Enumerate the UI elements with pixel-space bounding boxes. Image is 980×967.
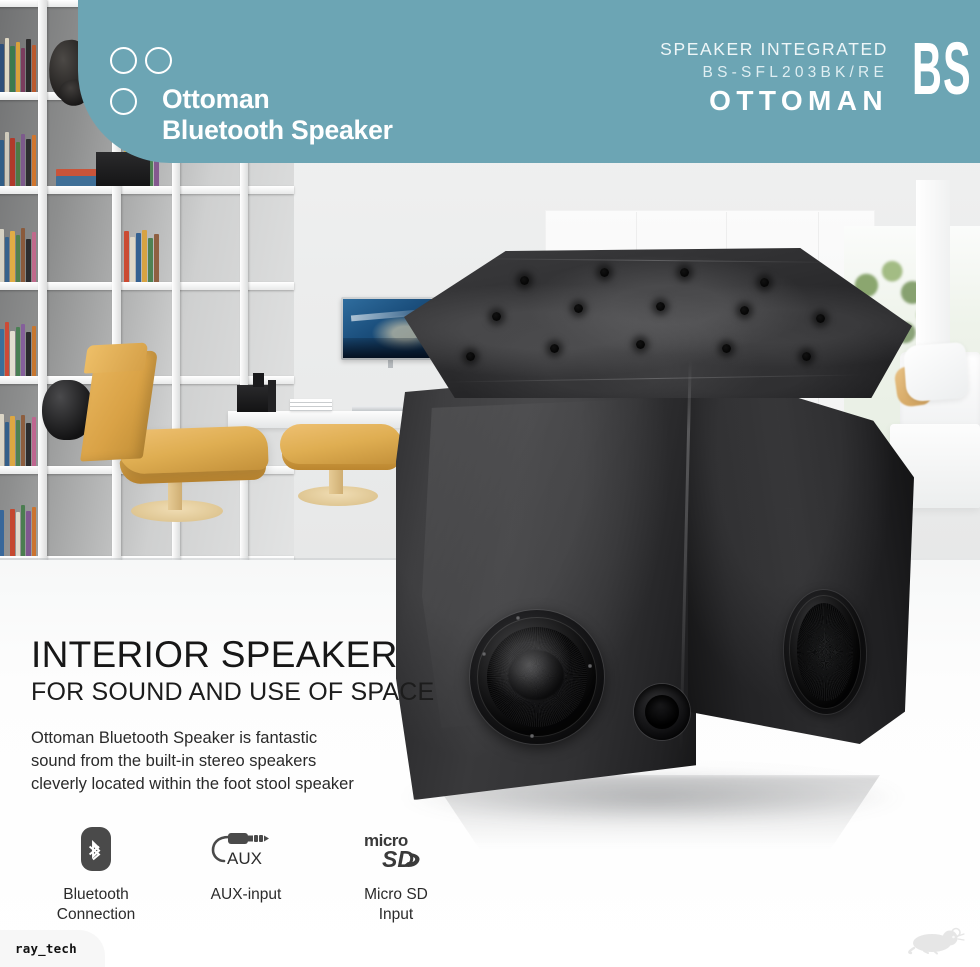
banner-product-info: SPEAKER INTEGRATED BS-SFL203BK/RE OTTOMA…	[660, 38, 888, 117]
aux-icon-text: AUX	[227, 849, 262, 868]
marketing-copy: INTERIOR SPEAKER FOR SOUND AND USE OF SP…	[31, 634, 434, 796]
feature-aux-label: AUX-input	[194, 885, 298, 905]
console-object	[253, 373, 264, 387]
tv-stand	[388, 360, 393, 368]
banner-title: Ottoman Bluetooth Speaker	[162, 84, 393, 146]
bluetooth-icon	[44, 824, 148, 874]
product-advertisement: Ottoman Bluetooth Speaker SPEAKER INTEGR…	[0, 0, 980, 967]
bass-port	[634, 684, 690, 740]
feature-bluetooth: Bluetooth Connection	[44, 824, 148, 925]
body-copy-line1: Ottoman Bluetooth Speaker is fantastic	[31, 727, 434, 750]
micro-sd-icon: micro SD	[344, 824, 448, 874]
ottoman-bluetooth-speaker-product	[396, 248, 920, 818]
feature-microsd-label: Micro SD Input	[344, 885, 448, 925]
seller-name: ray_tech	[15, 941, 77, 956]
headline: INTERIOR SPEAKER	[31, 634, 434, 676]
feature-list: Bluetooth Connection AUX AUX-input	[44, 824, 448, 925]
body-copy: Ottoman Bluetooth Speaker is fantastic s…	[31, 727, 434, 796]
banner-title-line2: Bluetooth Speaker	[162, 115, 393, 146]
feature-microsd: micro SD Micro SD Input	[344, 824, 448, 925]
feature-bluetooth-label: Bluetooth Connection	[44, 885, 148, 925]
aux-jack-icon: AUX	[194, 824, 298, 874]
chair-headrest	[84, 342, 148, 373]
console-object	[268, 380, 276, 412]
banner-kicker: SPEAKER INTEGRATED	[660, 38, 888, 60]
body-copy-line3: cleverly located within the foot stool s…	[31, 773, 434, 796]
body-copy-line2: sound from the built-in stereo speakers	[31, 750, 434, 773]
header-banner: Ottoman Bluetooth Speaker SPEAKER INTEGR…	[78, 0, 980, 163]
subheadline: FOR SOUND AND USE OF SPACE	[31, 677, 434, 707]
banner-model-number: BS-SFL203BK/RE	[660, 60, 888, 85]
seller-tab[interactable]: ray_tech	[0, 930, 105, 967]
micro-sd-text-bottom: SD	[382, 846, 414, 871]
speaker-tufted-top	[404, 248, 912, 398]
speaker-driver-front	[470, 610, 604, 744]
mouse-icon	[906, 926, 966, 956]
brand-logo: BS	[912, 32, 972, 106]
feature-aux: AUX AUX-input	[194, 824, 298, 925]
console-books	[290, 399, 332, 411]
footstool-seat	[280, 424, 402, 464]
banner-product-name: OTTOMAN	[660, 85, 888, 117]
banner-title-line1: Ottoman	[162, 84, 393, 115]
footstool-stem	[329, 466, 343, 494]
console-object	[237, 385, 271, 412]
